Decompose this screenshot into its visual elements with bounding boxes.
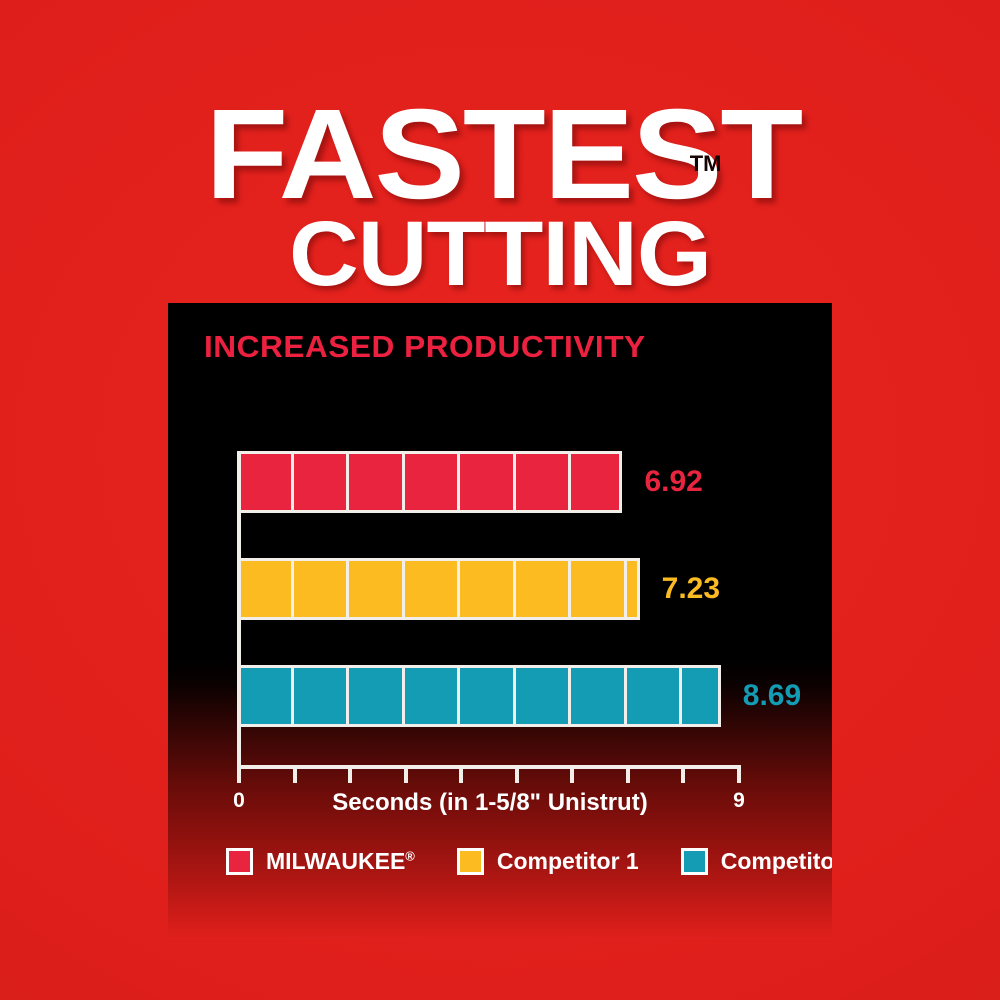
x-axis-tick	[681, 769, 685, 783]
bar-segment	[460, 561, 516, 617]
registered-mark: ®	[405, 848, 415, 863]
x-axis-tick	[293, 769, 297, 783]
x-axis-tick	[404, 769, 408, 783]
bar-segment	[571, 668, 627, 724]
promo-graphic: FASTEST TM CUTTING INCREASED PRODUCTIVIT…	[0, 0, 1000, 1000]
bar-value-label: 6.92	[644, 465, 702, 499]
headline-primary-text: FASTEST	[205, 83, 801, 226]
chart-title: INCREASED PRODUCTIVITY	[204, 329, 646, 365]
x-axis-tick	[459, 769, 463, 783]
legend-swatch-competitor-2	[681, 848, 708, 875]
headline-primary: FASTEST TM	[199, 96, 801, 214]
legend-label-competitor-1: Competitor 1	[497, 848, 639, 875]
bar-segment	[349, 668, 405, 724]
bar-competitor-1	[238, 558, 640, 620]
bar-milwaukee	[238, 451, 622, 513]
x-axis-tick	[737, 769, 741, 783]
x-axis-tick	[237, 769, 241, 783]
legend-label-milwaukee: MILWAUKEE®	[266, 848, 415, 875]
bar-competitor-2	[238, 665, 721, 727]
trademark-symbol: TM	[690, 154, 722, 174]
bar-segment	[241, 668, 294, 724]
bar-segment	[349, 454, 405, 510]
bar-segment	[516, 668, 572, 724]
bar-segment	[349, 561, 405, 617]
legend-swatch-competitor-1	[457, 848, 484, 875]
bar-segment	[516, 561, 572, 617]
legend-item-milwaukee[interactable]: MILWAUKEE®	[226, 848, 415, 875]
chart-panel: INCREASED PRODUCTIVITY 6.927.238.69 0 9 …	[168, 303, 832, 940]
bar-segment	[627, 668, 683, 724]
bar-segment	[241, 561, 294, 617]
x-axis-caption: Seconds (in 1-5/8" Unistrut)	[238, 789, 742, 817]
chart-legend: MILWAUKEE®Competitor 1Competitor 2	[226, 848, 832, 875]
bar-segment	[571, 454, 616, 510]
bar-segment	[571, 561, 627, 617]
bar-segment	[241, 454, 294, 510]
bar-segment	[516, 454, 572, 510]
x-axis-tick	[348, 769, 352, 783]
bar-segment	[405, 454, 461, 510]
bar-segment	[460, 454, 516, 510]
x-axis-tick	[570, 769, 574, 783]
bar-row: 8.69	[238, 665, 798, 727]
x-axis-tick	[515, 769, 519, 783]
headline-secondary: CUTTING	[0, 208, 1000, 300]
bar-segment	[294, 454, 350, 510]
bar-segment	[405, 668, 461, 724]
bar-row: 7.23	[238, 558, 798, 620]
x-axis-line	[237, 765, 741, 769]
bar-value-label: 8.69	[743, 679, 801, 713]
bar-segment	[294, 668, 350, 724]
bar-segment	[627, 561, 634, 617]
bar-segment	[405, 561, 461, 617]
legend-swatch-milwaukee	[226, 848, 253, 875]
headline-block: FASTEST TM CUTTING	[0, 96, 1000, 300]
legend-item-competitor-1[interactable]: Competitor 1	[457, 848, 639, 875]
legend-label-competitor-2: Competitor 2	[721, 848, 832, 875]
bar-row: 6.92	[238, 451, 798, 513]
bar-segment	[460, 668, 516, 724]
bar-segment	[294, 561, 350, 617]
bar-segment	[682, 668, 714, 724]
legend-item-competitor-2[interactable]: Competitor 2	[681, 848, 832, 875]
bar-value-label: 7.23	[662, 572, 720, 606]
x-axis-tick	[626, 769, 630, 783]
